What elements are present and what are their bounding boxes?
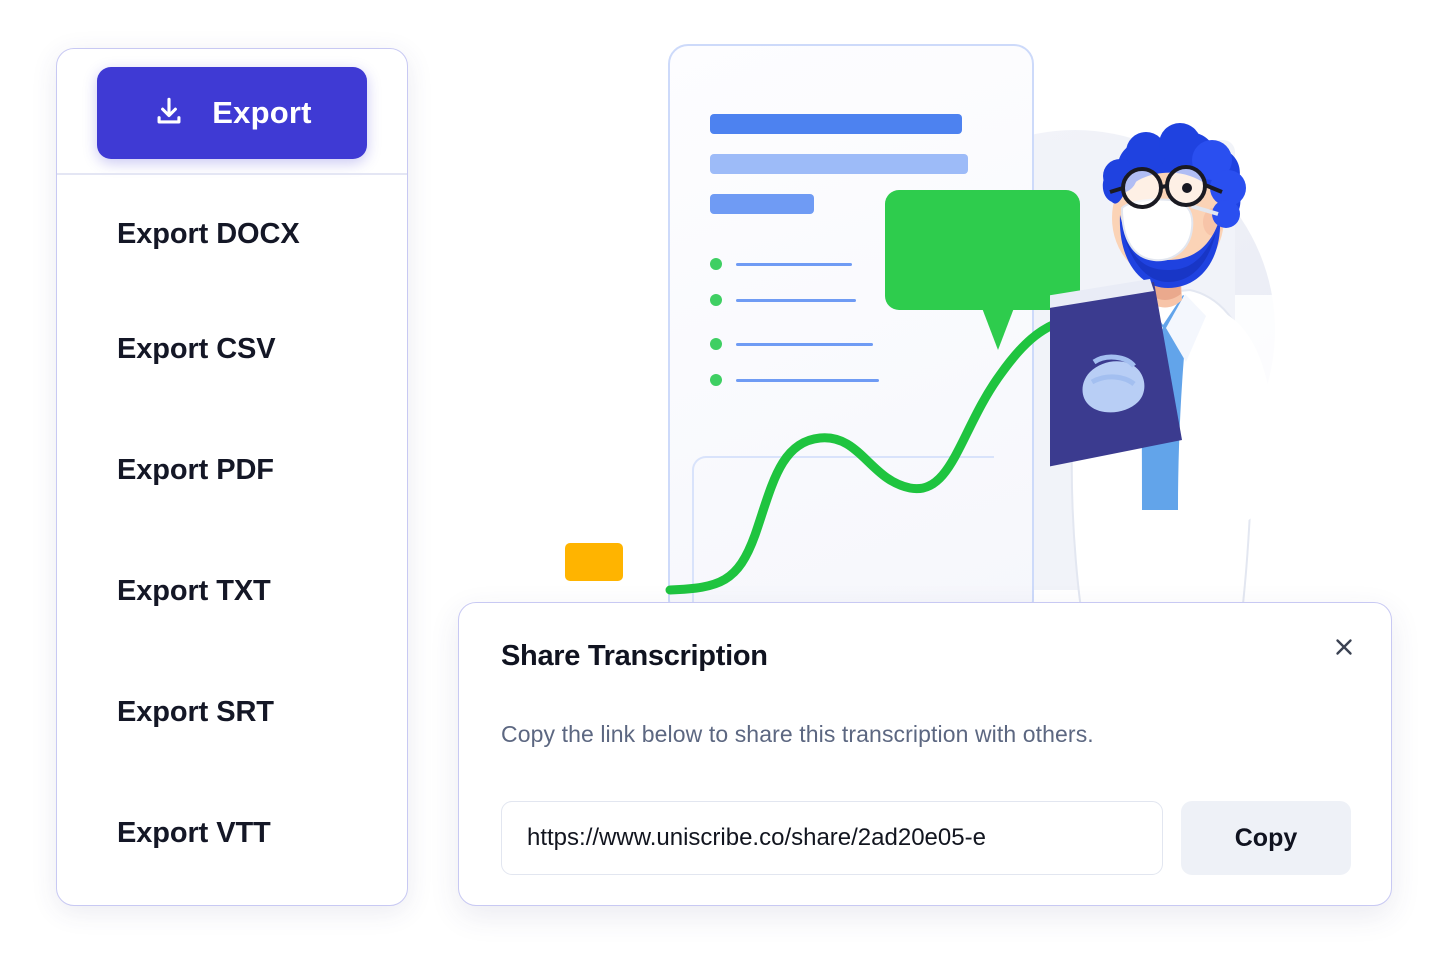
doc-subheading-bar xyxy=(710,154,968,174)
menu-item-export-csv[interactable]: Export CSV xyxy=(57,289,407,410)
menu-item-export-srt[interactable]: Export SRT xyxy=(57,652,407,773)
menu-item-export-docx[interactable]: Export DOCX xyxy=(57,173,407,289)
menu-item-export-vtt[interactable]: Export VTT xyxy=(57,773,407,894)
app-root: Export Export DOCX Export CSV Export PDF… xyxy=(0,0,1440,960)
menu-item-export-pdf[interactable]: Export PDF xyxy=(57,410,407,531)
close-icon xyxy=(1331,634,1357,663)
doc-text-line xyxy=(736,299,856,302)
dialog-subtitle: Copy the link below to share this transc… xyxy=(501,721,1094,748)
export-button-label: Export xyxy=(212,95,311,131)
doc-text-line xyxy=(736,263,852,266)
trend-curve xyxy=(660,320,1080,610)
hero-illustration xyxy=(520,20,1420,620)
export-button[interactable]: Export xyxy=(97,67,367,159)
accent-block xyxy=(565,543,623,581)
doc-short-bar xyxy=(710,194,814,214)
doctor-figure xyxy=(1050,110,1380,630)
export-dropdown-panel: Export Export DOCX Export CSV Export PDF… xyxy=(56,48,408,906)
doc-heading-bar xyxy=(710,114,962,134)
speech-bubble-tail xyxy=(982,308,1014,350)
menu-item-export-txt[interactable]: Export TXT xyxy=(57,531,407,652)
share-link-input[interactable] xyxy=(501,801,1163,875)
export-menu-list: Export DOCX Export CSV Export PDF Export… xyxy=(57,173,407,894)
copy-button[interactable]: Copy xyxy=(1181,801,1351,875)
dialog-title: Share Transcription xyxy=(501,640,768,673)
share-transcription-dialog: Share Transcription Copy the link below … xyxy=(458,602,1392,906)
bullet-dot-icon xyxy=(710,258,722,270)
bullet-dot-icon xyxy=(710,294,722,306)
download-icon xyxy=(152,95,186,132)
close-button[interactable] xyxy=(1323,627,1365,669)
